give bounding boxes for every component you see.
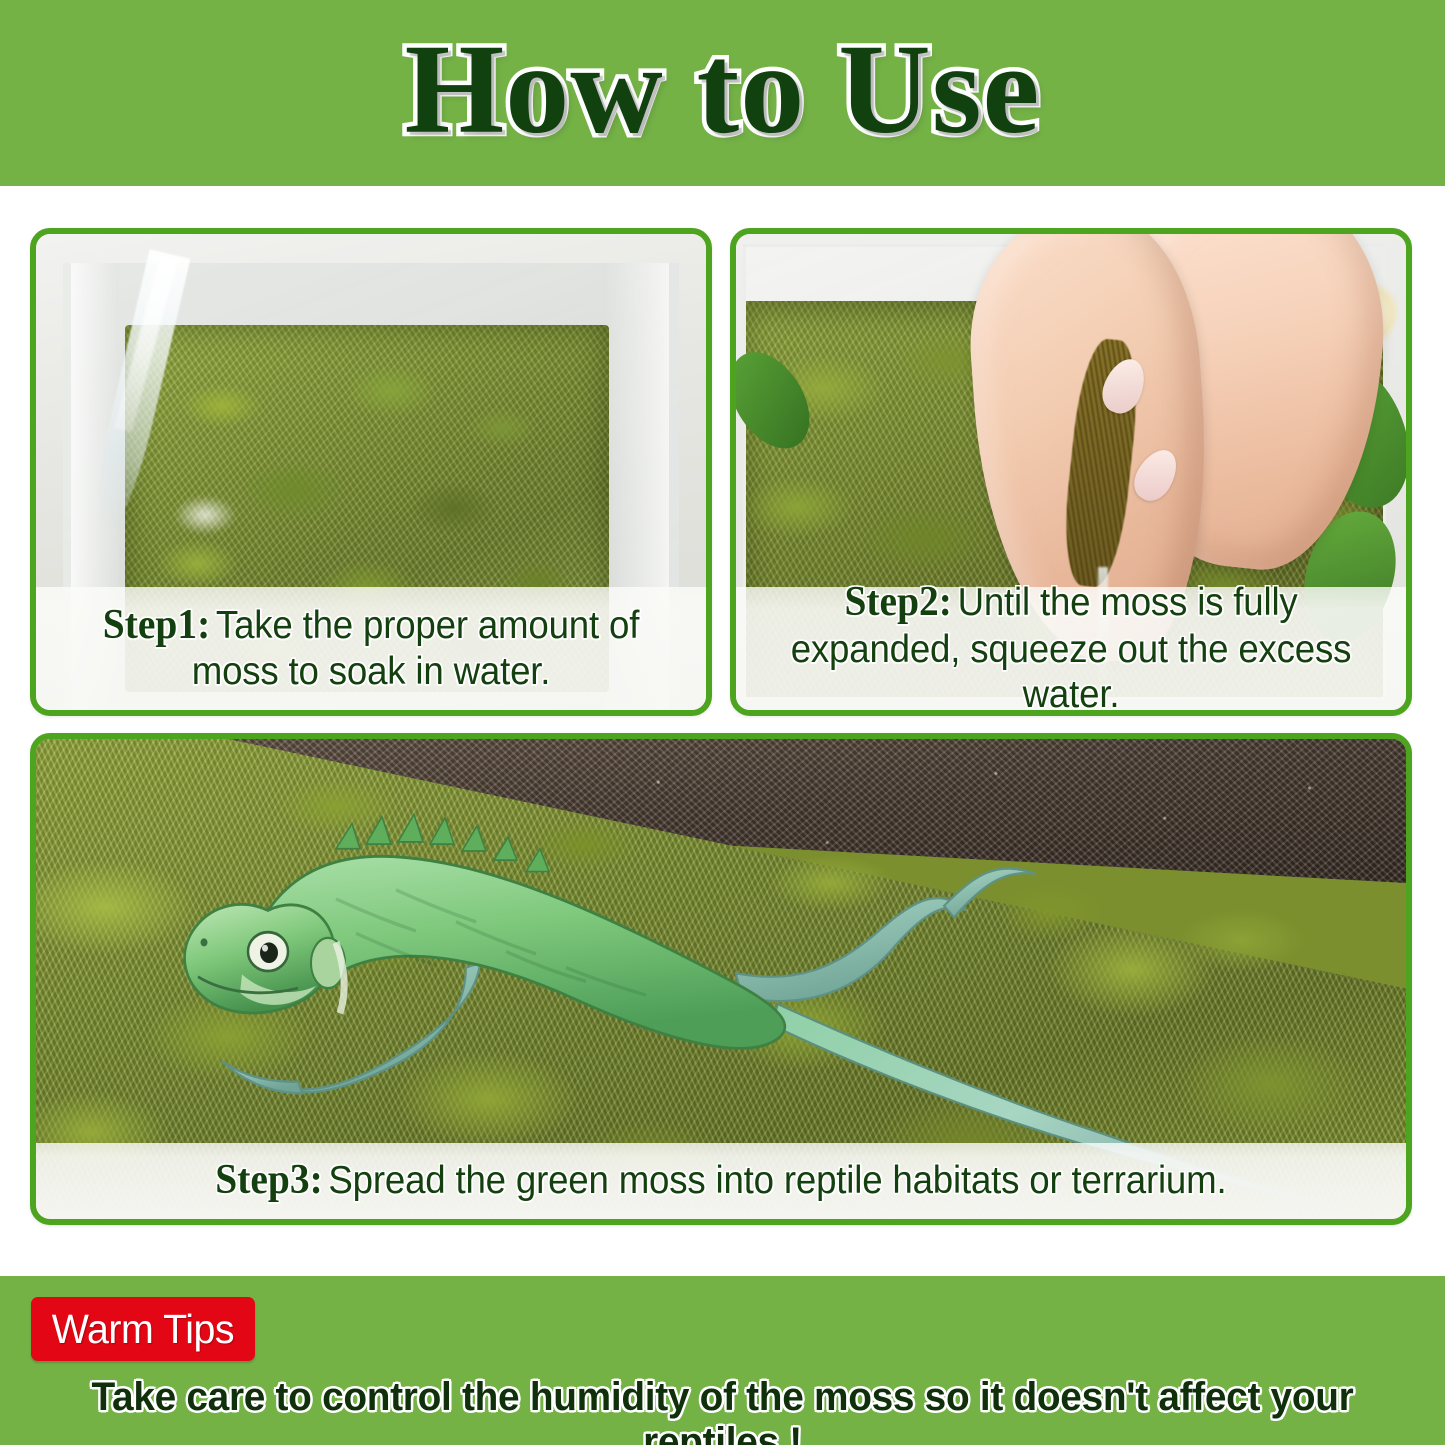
lizard-rear-foot (944, 869, 1036, 918)
step-2-label: Step2: (844, 579, 957, 625)
step-3-caption: Step3:Spread the green moss into reptile… (36, 1143, 1406, 1219)
lizard-pupil (260, 942, 278, 963)
step-card-2: Step2:Until the moss is fully expanded, … (730, 228, 1412, 716)
footer-band: Warm Tips Take care to control the humid… (0, 1276, 1445, 1445)
step-3-caption-text: Step3:Spread the green moss into reptile… (215, 1156, 1226, 1205)
step-3-text: Spread the green moss into reptile habit… (329, 1159, 1227, 1202)
lizard-front-foot (222, 1061, 302, 1093)
lizard-rear-leg (736, 898, 966, 1001)
warm-tips-text: Take care to control the humidity of the… (22, 1375, 1424, 1445)
warm-tips-badge: Warm Tips (31, 1297, 255, 1361)
step-1-text: Take the proper amount of moss to soak i… (192, 604, 639, 694)
lizard-eye-glint (262, 945, 268, 952)
step-card-3: Step3:Spread the green moss into reptile… (30, 733, 1412, 1225)
step-3-label: Step3: (215, 1157, 328, 1203)
step-2-caption-text: Step2:Until the moss is fully expanded, … (769, 578, 1372, 716)
step-1-label: Step1: (103, 602, 216, 648)
infographic-page: How to Use Step1:Take the proper amount … (0, 0, 1445, 1445)
step-card-1: Step1:Take the proper amount of moss to … (30, 228, 712, 716)
lizard-nostril (201, 938, 208, 946)
step-2-caption: Step2:Until the moss is fully expanded, … (736, 587, 1406, 710)
page-title: How to Use (405, 25, 1041, 161)
water-splash (173, 495, 237, 535)
step-1-caption: Step1:Take the proper amount of moss to … (36, 587, 706, 710)
step-1-caption-text: Step1:Take the proper amount of moss to … (69, 601, 672, 695)
warm-tips-label: Warm Tips (52, 1306, 234, 1353)
header-band: How to Use (0, 0, 1445, 186)
